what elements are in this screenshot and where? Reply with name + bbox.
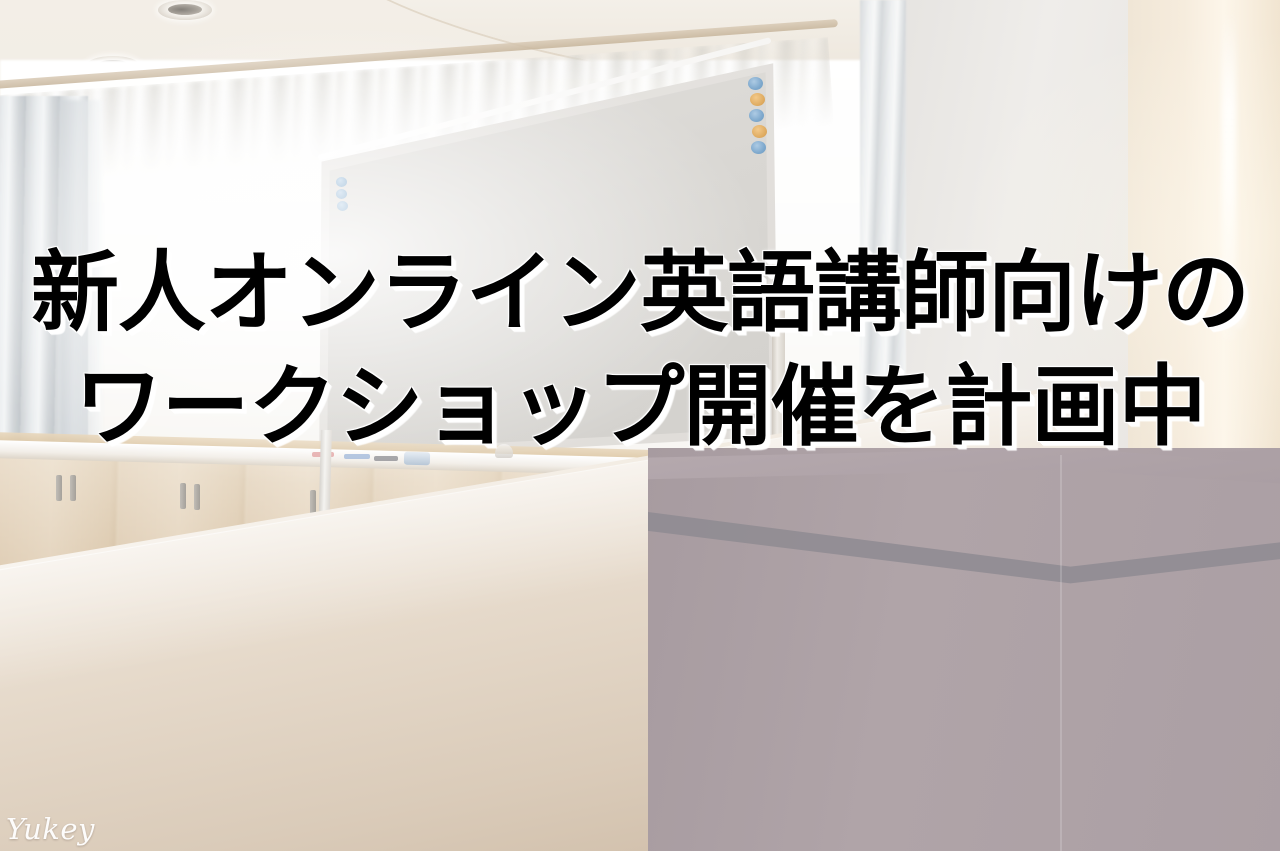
magnet-icon xyxy=(748,77,763,90)
headline-line-1: 新人オンライン英語講師向けの xyxy=(0,236,1280,350)
cabinet-handle xyxy=(56,475,62,501)
cabinet-handle xyxy=(70,475,76,501)
magnet-icon xyxy=(751,141,766,154)
magnet-icon xyxy=(336,189,347,199)
image-canvas: 新人オンライン英語講師向けの ワークショップ開催を計画中 Yukey xyxy=(0,0,1280,851)
watermark: Yukey xyxy=(6,812,95,846)
magnet-icon xyxy=(752,125,767,138)
magnet-icon xyxy=(749,109,764,122)
downlight-icon xyxy=(158,0,212,20)
magnet-icon xyxy=(336,177,347,187)
cabinet-handle xyxy=(180,483,186,509)
headline-line-2: ワークショップ開催を計画中 xyxy=(0,350,1280,464)
lectern-corner-edge xyxy=(1060,455,1062,851)
lectern-counter xyxy=(648,448,1280,851)
magnet-icon xyxy=(750,93,765,106)
headline-overlay: 新人オンライン英語講師向けの ワークショップ開催を計画中 xyxy=(0,236,1280,464)
magnet-icon xyxy=(337,201,348,211)
cabinet-handle xyxy=(194,484,200,510)
